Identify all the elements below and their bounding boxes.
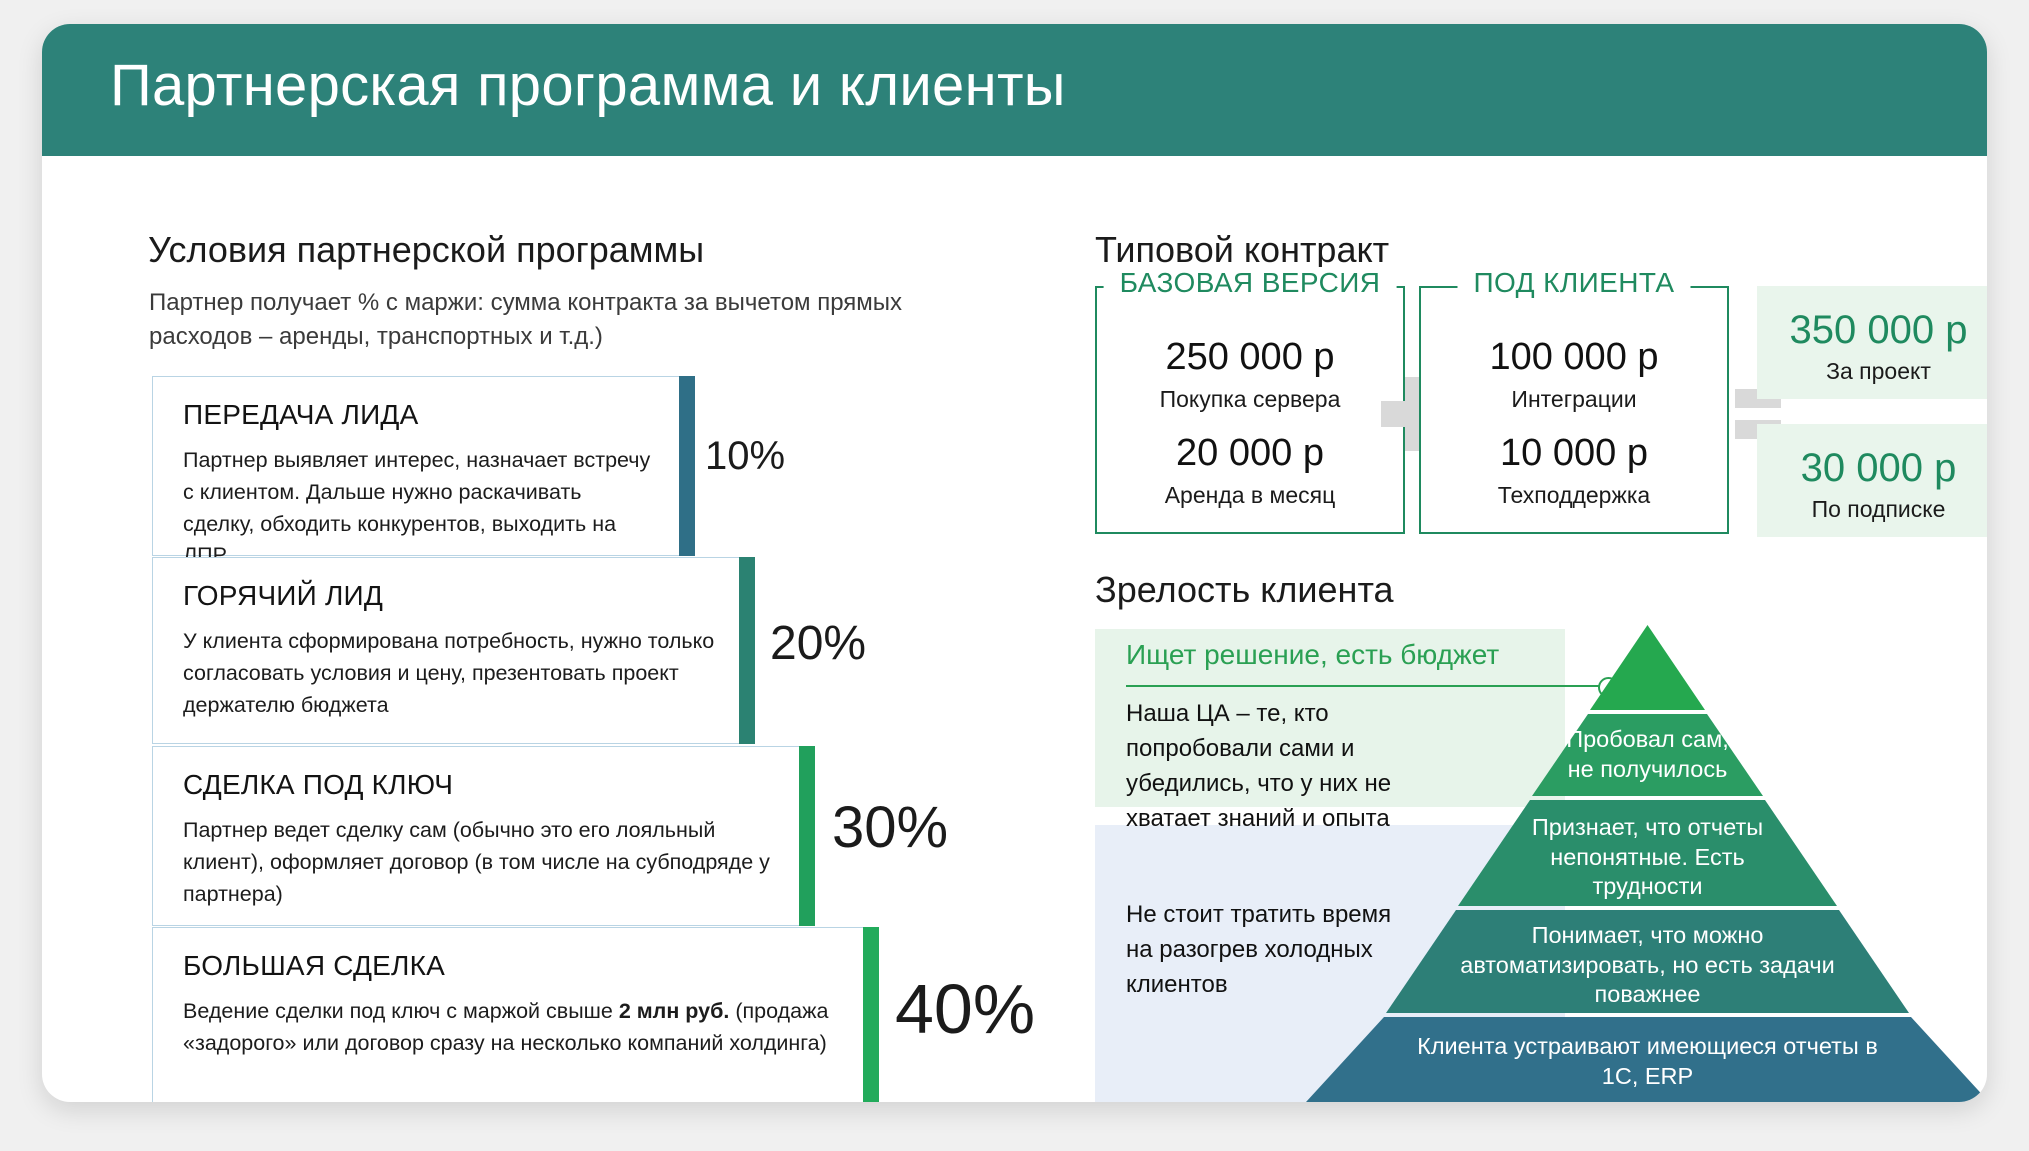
contract-box-custom[interactable]: ПОД КЛИЕНТА 100 000 р Интеграции 10 000 … bbox=[1419, 286, 1729, 534]
section-title-client-maturity: Зрелость клиента bbox=[1095, 569, 1394, 611]
contract-amount-1-2: 20 000 р bbox=[1097, 432, 1403, 475]
tier-accent-bar-4 bbox=[863, 927, 879, 1102]
contract-caption-2-2: Техподдержка bbox=[1421, 482, 1727, 509]
tier-body-4-pre: Ведение сделки под ключ с маржой свыше bbox=[183, 999, 619, 1023]
tier-body-1: Партнер выявляет интерес, назначает встр… bbox=[183, 445, 657, 572]
tier-title-2: ГОРЯЧИЙ ЛИД bbox=[183, 580, 383, 612]
tier-accent-bar-1 bbox=[679, 376, 695, 556]
tier-percent-1: 10% bbox=[705, 434, 785, 479]
tier-title-4: БОЛЬШАЯ СДЕЛКА bbox=[183, 950, 445, 982]
tier-card-big-deal[interactable]: БОЛЬШАЯ СДЕЛКА Ведение сделки под ключ с… bbox=[152, 927, 864, 1102]
tier-card-turnkey-deal[interactable]: СДЕЛКА ПОД КЛЮЧ Партнер ведет сделку сам… bbox=[152, 746, 800, 926]
contract-amount-2-2: 10 000 р bbox=[1421, 432, 1727, 475]
tier-body-4-bold: 2 млн руб. bbox=[619, 999, 730, 1023]
contract-box-legend-2: ПОД КЛИЕНТА bbox=[1458, 267, 1691, 299]
tier-title-3: СДЕЛКА ПОД КЛЮЧ bbox=[183, 769, 453, 801]
contract-amount-1-1: 250 000 р bbox=[1097, 336, 1403, 379]
contract-caption-1-2: Аренда в месяц bbox=[1097, 482, 1403, 509]
slide-header: Партнерская программа и клиенты bbox=[42, 24, 1987, 156]
tier-body-3: Партнер ведет сделку сам (обычно это его… bbox=[183, 815, 777, 910]
contract-caption-2-1: Интеграции bbox=[1421, 386, 1727, 413]
tier-percent-3: 30% bbox=[832, 794, 948, 861]
result-amount-1: 350 000 р bbox=[1757, 308, 1987, 353]
tier-card-hot-lead[interactable]: ГОРЯЧИЙ ЛИД У клиента сформирована потре… bbox=[152, 557, 740, 744]
result-amount-2: 30 000 р bbox=[1757, 446, 1987, 491]
result-box-subscription[interactable]: 30 000 р По подписке bbox=[1757, 424, 1987, 537]
tier-card-lead-transfer[interactable]: ПЕРЕДАЧА ЛИДА Партнер выявляет интерес, … bbox=[152, 376, 680, 556]
maturity-pyramid: Пробовал сам, не получилось Признает, чт… bbox=[1295, 625, 1987, 1102]
section-title-standard-contract: Типовой контракт bbox=[1095, 229, 1389, 271]
slide-card: Партнерская программа и клиенты Условия … bbox=[42, 24, 1987, 1102]
contract-caption-1-1: Покупка сервера bbox=[1097, 386, 1403, 413]
tier-body-4: Ведение сделки под ключ с маржой свыше 2… bbox=[183, 996, 841, 1060]
pyramid-label-5: Клиента устраивают имеющиеся отчеты в 1С… bbox=[1315, 1032, 1980, 1091]
section-title-partner-terms: Условия партнерской программы bbox=[148, 229, 704, 271]
tier-body-2: У клиента сформирована потребность, нужн… bbox=[183, 626, 717, 721]
page-title: Партнерская программа и клиенты bbox=[110, 52, 1066, 119]
tier-accent-bar-2 bbox=[739, 557, 755, 744]
pyramid-label-4: Понимает, что можно автоматизировать, но… bbox=[1355, 921, 1940, 1010]
pyramid-label-3: Признает, что отчеты непонятные. Есть тр… bbox=[1435, 813, 1860, 902]
contract-box-base-version[interactable]: БАЗОВАЯ ВЕРСИЯ 250 000 р Покупка сервера… bbox=[1095, 286, 1405, 534]
section-subtitle-partner-terms: Партнер получает % с маржи: сумма контра… bbox=[149, 286, 949, 354]
tier-percent-4: 40% bbox=[895, 969, 1035, 1049]
result-caption-1: За проект bbox=[1757, 358, 1987, 385]
pyramid-level-1[interactable] bbox=[1590, 625, 1705, 710]
result-box-per-project[interactable]: 350 000 р За проект bbox=[1757, 286, 1987, 399]
tier-accent-bar-3 bbox=[799, 746, 815, 926]
pyramid-label-2: Пробовал сам, не получилось bbox=[1510, 725, 1785, 784]
contract-amount-2-1: 100 000 р bbox=[1421, 336, 1727, 379]
contract-box-legend-1: БАЗОВАЯ ВЕРСИЯ bbox=[1104, 267, 1397, 299]
slide-root: Партнерская программа и клиенты Условия … bbox=[0, 0, 2029, 1151]
result-caption-2: По подписке bbox=[1757, 496, 1987, 523]
tier-percent-2: 20% bbox=[770, 616, 866, 671]
tier-title-1: ПЕРЕДАЧА ЛИДА bbox=[183, 399, 418, 431]
